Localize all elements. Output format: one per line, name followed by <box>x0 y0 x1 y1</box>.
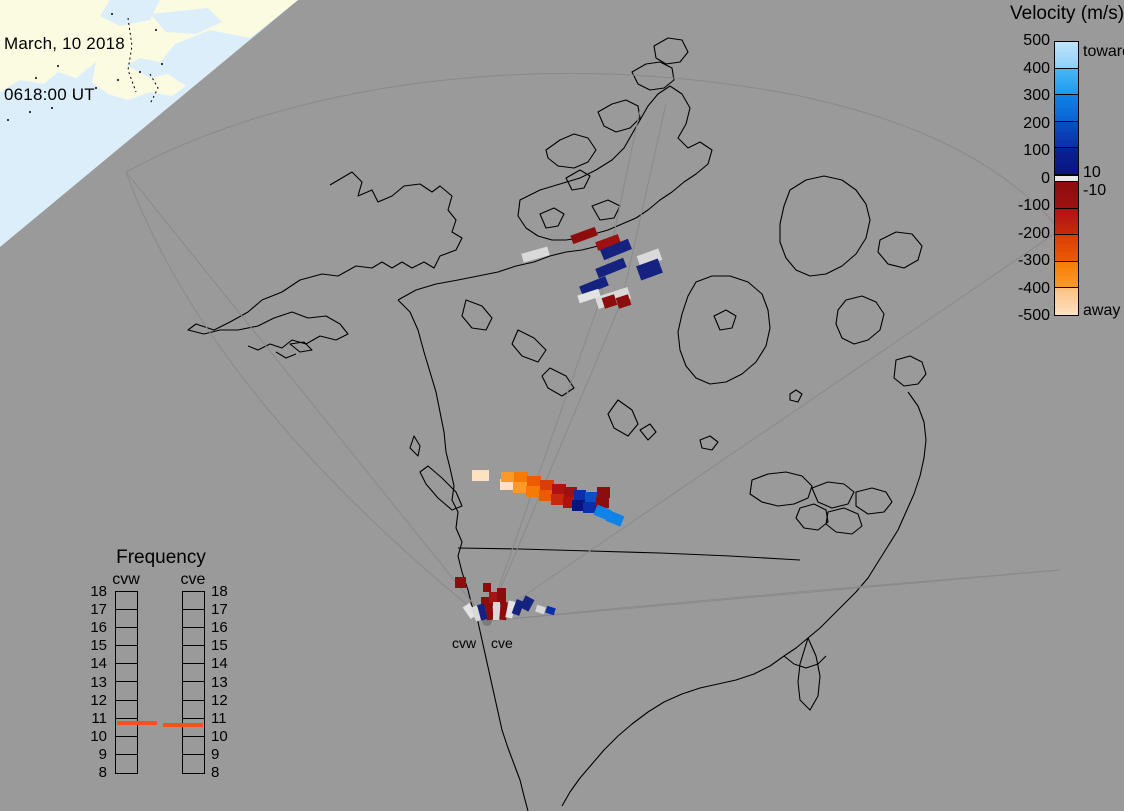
frequency-segment <box>116 592 137 610</box>
frequency-tick-cvw-9: 9 <box>85 747 107 762</box>
scatter-cell <box>552 484 566 495</box>
frequency-tick-cvw-16: 16 <box>85 620 107 635</box>
scatter-cell <box>583 502 596 513</box>
frequency-tick-cve-11: 11 <box>211 711 233 726</box>
frequency-segment <box>116 628 137 646</box>
frequency-scale-cvw <box>115 591 138 774</box>
frequency-tick-cve-15: 15 <box>211 638 233 653</box>
scatter-cell <box>455 577 466 588</box>
frequency-tick-cve-18: 18 <box>211 584 233 599</box>
velocity-tick--100: -100 <box>1018 198 1050 214</box>
velocity-band-3 <box>1055 122 1078 149</box>
scatter-cell <box>514 472 528 483</box>
scatter-cell <box>597 487 610 498</box>
scatter-cell <box>570 227 598 244</box>
frequency-segment <box>183 592 204 610</box>
scatter-cell <box>483 583 491 592</box>
frequency-tick-cve-10: 10 <box>211 729 233 744</box>
scatter-cell <box>535 605 546 614</box>
timestamp-date: March, 10 2018 <box>4 35 125 52</box>
velocity-band-8 <box>1055 235 1078 262</box>
radar-site-label-cvw: cvw <box>452 636 476 651</box>
frequency-marker-cvw <box>117 721 157 725</box>
velocity-band-7 <box>1055 209 1078 236</box>
frequency-segment <box>116 610 137 628</box>
frequency-tick-cve-12: 12 <box>211 693 233 708</box>
velocity-tick-300: 300 <box>1023 88 1050 104</box>
frequency-segment <box>116 664 137 682</box>
velocity-band-6 <box>1055 182 1078 209</box>
frequency-segment <box>183 682 204 700</box>
scatter-cell <box>513 482 527 493</box>
frequency-scale-cve <box>182 591 205 774</box>
scatter-cell <box>520 595 535 611</box>
frequency-tick-cvw-15: 15 <box>85 638 107 653</box>
frequency-segment <box>116 737 137 755</box>
velocity-ground-scatter-upper: 10 <box>1083 165 1101 181</box>
frequency-tick-cve-16: 16 <box>211 620 233 635</box>
frequency-segment <box>183 628 204 646</box>
velocity-band-1 <box>1055 69 1078 96</box>
frequency-tick-cvw-11: 11 <box>85 711 107 726</box>
timestamp: March, 10 2018 0618:00 UT <box>4 1 125 137</box>
scatter-cell <box>499 602 508 621</box>
scatter-cell <box>472 470 489 481</box>
frequency-segment <box>116 755 137 773</box>
velocity-legend: Velocity (m/s) 5004003002001000-100-200-… <box>970 0 1124 340</box>
frequency-segment <box>116 646 137 664</box>
frequency-tick-cvw-10: 10 <box>85 729 107 744</box>
velocity-band-10 <box>1055 288 1078 315</box>
radar-site-label-cve: cve <box>491 636 513 651</box>
velocity-tick-0: 0 <box>1041 171 1050 187</box>
velocity-band-5 <box>1055 175 1078 182</box>
frequency-segment <box>183 737 204 755</box>
frequency-tick-cvw-13: 13 <box>85 675 107 690</box>
velocity-tick--500: -500 <box>1018 308 1050 324</box>
scatter-cell <box>545 606 556 615</box>
velocity-away-label: away <box>1083 303 1120 319</box>
scatter-cell <box>595 258 627 279</box>
velocity-tick-500: 500 <box>1023 33 1050 49</box>
velocity-tick--300: -300 <box>1018 253 1050 269</box>
frequency-segment <box>183 664 204 682</box>
frequency-tick-cvw-8: 8 <box>85 765 107 780</box>
scatter-cell <box>526 486 540 497</box>
frequency-segment <box>116 701 137 719</box>
frequency-segment <box>183 755 204 773</box>
velocity-ground-scatter-lower: -10 <box>1083 183 1106 199</box>
frequency-tick-cvw-12: 12 <box>85 693 107 708</box>
scatter-cell <box>501 472 515 482</box>
velocity-band-9 <box>1055 262 1078 289</box>
velocity-tick--400: -400 <box>1018 281 1050 297</box>
velocity-band-0 <box>1055 42 1078 69</box>
scatter-cell <box>540 480 554 491</box>
frequency-tick-cve-8: 8 <box>211 765 233 780</box>
frequency-segment <box>183 646 204 664</box>
frequency-tick-cvw-18: 18 <box>85 584 107 599</box>
frequency-segment <box>183 610 204 628</box>
scatter-cell <box>551 494 565 505</box>
velocity-tick-200: 200 <box>1023 116 1050 132</box>
scatter-cell <box>574 490 586 501</box>
velocity-tick--200: -200 <box>1018 226 1050 242</box>
frequency-legend: Frequency cvw18171615141312111098cve1817… <box>85 545 237 777</box>
velocity-toward-label: toward <box>1083 44 1124 60</box>
velocity-legend-title: Velocity (m/s) <box>1010 3 1124 24</box>
scatter-cell <box>521 246 549 262</box>
frequency-segment <box>116 682 137 700</box>
frequency-segment <box>183 701 204 719</box>
superdarn-velocity-map: March, 10 2018 0618:00 UT Velocity (m/s)… <box>0 0 1124 811</box>
frequency-tick-cve-17: 17 <box>211 602 233 617</box>
scatter-cell <box>497 588 506 604</box>
scatter-cell <box>493 602 500 620</box>
frequency-tick-cve-9: 9 <box>211 747 233 762</box>
scatter-cell <box>527 476 541 487</box>
frequency-tick-cve-13: 13 <box>211 675 233 690</box>
frequency-tick-cvw-14: 14 <box>85 656 107 671</box>
frequency-tick-cve-14: 14 <box>211 656 233 671</box>
velocity-tick-400: 400 <box>1023 61 1050 77</box>
timestamp-time: 0618:00 UT <box>4 86 125 103</box>
frequency-tick-cvw-17: 17 <box>85 602 107 617</box>
frequency-marker-cve <box>163 723 203 727</box>
velocity-band-4 <box>1055 148 1078 175</box>
frequency-legend-title: Frequency <box>85 548 237 568</box>
velocity-band-2 <box>1055 95 1078 122</box>
velocity-colorbar <box>1054 41 1079 316</box>
scatter-cell <box>539 490 553 501</box>
frequency-radar-name-cvw: cvw <box>100 571 152 588</box>
velocity-tick-100: 100 <box>1023 143 1050 159</box>
frequency-segment <box>183 719 204 737</box>
